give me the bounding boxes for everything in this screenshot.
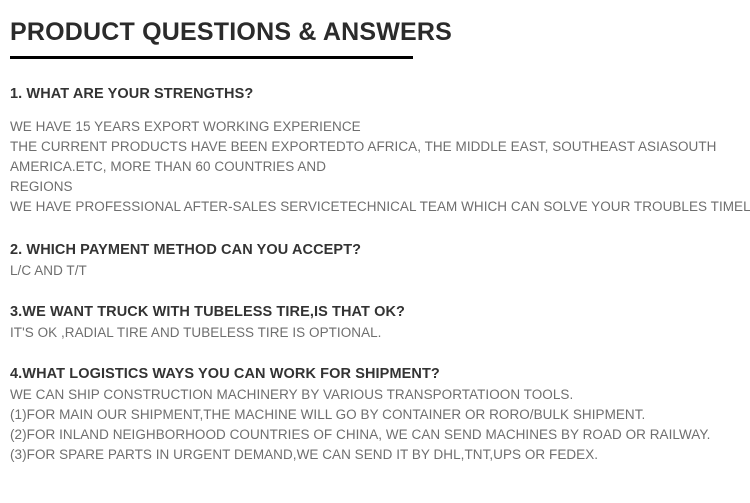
qa-list: 1. WHAT ARE YOUR STRENGTHS? WE HAVE 15 Y… [10, 85, 740, 466]
title-block: PRODUCT QUESTIONS & ANSWERS [10, 0, 740, 59]
answer-line: THE CURRENT PRODUCTS HAVE BEEN EXPORTEDT… [10, 137, 740, 157]
qa-answer: WE HAVE 15 YEARS EXPORT WORKING EXPERIEN… [10, 117, 740, 217]
answer-line: WE HAVE PROFESSIONAL AFTER-SALES SERVICE… [10, 197, 740, 217]
qa-item: 1. WHAT ARE YOUR STRENGTHS? WE HAVE 15 Y… [10, 85, 740, 217]
answer-line: (3)FOR SPARE PARTS IN URGENT DEMAND,WE C… [10, 445, 740, 465]
qa-answer: IT'S OK ,RADIAL TIRE AND TUBELESS TIRE I… [10, 323, 740, 343]
answer-line: WE HAVE 15 YEARS EXPORT WORKING EXPERIEN… [10, 117, 740, 137]
page-title: PRODUCT QUESTIONS & ANSWERS [10, 18, 740, 48]
answer-line: (1)FOR MAIN OUR SHIPMENT,THE MACHINE WIL… [10, 405, 740, 425]
qa-question: 3.WE WANT TRUCK WITH TUBELESS TIRE,IS TH… [10, 303, 740, 321]
qa-answer: WE CAN SHIP CONSTRUCTION MACHINERY BY VA… [10, 385, 740, 465]
answer-line: REGIONS [10, 177, 740, 197]
answer-line: AMERICA.ETC, MORE THAN 60 COUNTRIES AND [10, 157, 740, 177]
title-underline-rule [10, 56, 413, 59]
qa-question: 2. WHICH PAYMENT METHOD CAN YOU ACCEPT? [10, 241, 740, 259]
qa-item: 2. WHICH PAYMENT METHOD CAN YOU ACCEPT? … [10, 241, 740, 281]
qa-item: 4.WHAT LOGISTICS WAYS YOU CAN WORK FOR S… [10, 365, 740, 465]
product-qa-page: PRODUCT QUESTIONS & ANSWERS 1. WHAT ARE … [0, 0, 750, 503]
qa-question: 4.WHAT LOGISTICS WAYS YOU CAN WORK FOR S… [10, 365, 740, 383]
qa-question: 1. WHAT ARE YOUR STRENGTHS? [10, 85, 740, 103]
answer-line: IT'S OK ,RADIAL TIRE AND TUBELESS TIRE I… [10, 323, 740, 343]
qa-answer: L/C AND T/T [10, 261, 740, 281]
answer-line: WE CAN SHIP CONSTRUCTION MACHINERY BY VA… [10, 385, 740, 405]
qa-item: 3.WE WANT TRUCK WITH TUBELESS TIRE,IS TH… [10, 303, 740, 343]
answer-line: (2)FOR INLAND NEIGHBORHOOD COUNTRIES OF … [10, 425, 740, 445]
answer-line: L/C AND T/T [10, 261, 740, 281]
